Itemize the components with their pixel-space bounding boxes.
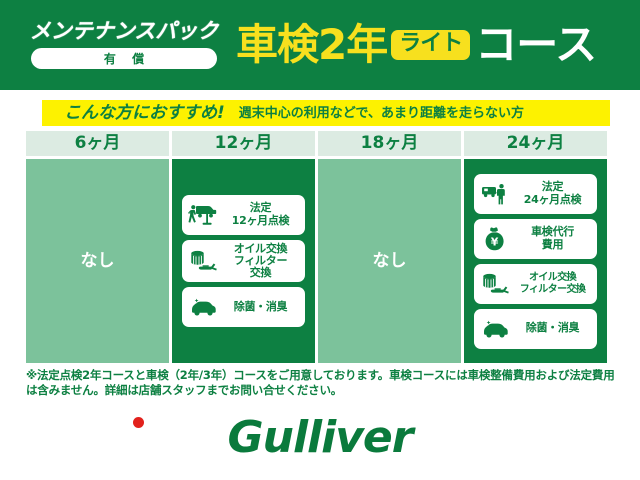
paid-pill: 有 償 xyxy=(31,48,217,69)
brand-logo: Gulliver xyxy=(0,415,640,461)
service-card: オイル交換フィルター交換 xyxy=(474,264,597,304)
gulliver-logo-text: Gulliver xyxy=(228,416,413,460)
header-right-group: 車検2年 ライト コース xyxy=(236,24,640,66)
column-body-24months: 法定24ヶ月点検 ¥ 車検代行費用 xyxy=(464,159,607,363)
table-column-6months: 6ヶ月 なし xyxy=(26,131,169,363)
column-header-label: 18ヶ月 xyxy=(361,135,419,152)
course-title-yellow: 車検2年 xyxy=(236,24,387,66)
service-card-label: 除菌・消臭 xyxy=(512,322,593,334)
column-header-12months: 12ヶ月 xyxy=(172,131,315,156)
column-body-18months: なし xyxy=(318,159,461,363)
pack-title: メンテナンスパック xyxy=(30,21,219,42)
column-body-12months: 法定12ヶ月点検 xyxy=(172,159,315,363)
maintenance-pack-poster: メンテナンスパック 有 償 車検2年 ライト コース こんな方におすすめ! 週末… xyxy=(0,0,640,480)
table-column-24months: 24ヶ月 xyxy=(464,131,607,363)
lite-badge: ライト xyxy=(391,30,470,60)
money-bag-yen-icon: ¥ xyxy=(478,224,512,254)
column-header-18months: 18ヶ月 xyxy=(318,131,461,156)
service-card-label: 法定12ヶ月点検 xyxy=(220,202,301,227)
oil-filter-icon xyxy=(478,269,512,299)
column-header-6months: 6ヶ月 xyxy=(26,131,169,156)
table-column-12months: 12ヶ月 xyxy=(172,131,315,363)
service-card: ¥ 車検代行費用 xyxy=(474,219,597,259)
recommend-banner: こんな方におすすめ! 週末中心の利用などで、あまり距離を走らない方 xyxy=(42,100,610,126)
column-header-label: 12ヶ月 xyxy=(215,135,273,152)
service-card-label: 除菌・消臭 xyxy=(220,301,301,313)
oil-filter-icon xyxy=(186,246,220,276)
service-table: 6ヶ月 なし 12ヶ月 xyxy=(26,131,610,363)
course-title-white: コース xyxy=(475,24,596,66)
service-card: 法定24ヶ月点検 xyxy=(474,174,597,214)
service-card-label: 法定24ヶ月点検 xyxy=(512,181,593,206)
car-inspector-icon xyxy=(478,179,512,209)
service-card: 除菌・消臭 xyxy=(182,287,305,327)
footnote-text: ※法定点検2年コースと車検（2年/3年）コースをご用意しております。車検コースに… xyxy=(26,368,616,398)
column-header-label: 24ヶ月 xyxy=(507,135,565,152)
column-body-6months: なし xyxy=(26,159,169,363)
none-label: なし xyxy=(81,253,115,270)
recommend-headline: こんな方におすすめ! xyxy=(64,105,225,122)
car-sparkle-icon xyxy=(186,292,220,322)
car-lift-inspection-icon xyxy=(186,200,220,230)
service-card: 法定12ヶ月点検 xyxy=(182,195,305,235)
column-header-24months: 24ヶ月 xyxy=(464,131,607,156)
column-header-label: 6ヶ月 xyxy=(75,135,121,152)
svg-text:¥: ¥ xyxy=(491,235,499,248)
service-card: 除菌・消臭 xyxy=(474,309,597,349)
service-card: オイル交換フィルター交換 xyxy=(182,240,305,283)
table-column-18months: 18ヶ月 なし xyxy=(318,131,461,363)
service-card-label: 車検代行費用 xyxy=(512,226,593,251)
logo-red-dot-icon xyxy=(133,417,144,428)
header-left-group: メンテナンスパック 有 償 xyxy=(18,21,230,69)
poster-header: メンテナンスパック 有 償 車検2年 ライト コース xyxy=(0,0,640,90)
recommend-note: 週末中心の利用などで、あまり距離を走らない方 xyxy=(239,107,524,120)
car-sparkle-icon xyxy=(478,314,512,344)
none-label: なし xyxy=(373,253,407,270)
service-card-label: オイル交換フィルター交換 xyxy=(512,272,593,294)
service-card-label: オイル交換フィルター交換 xyxy=(220,243,301,280)
paid-label: 有 償 xyxy=(98,53,150,65)
